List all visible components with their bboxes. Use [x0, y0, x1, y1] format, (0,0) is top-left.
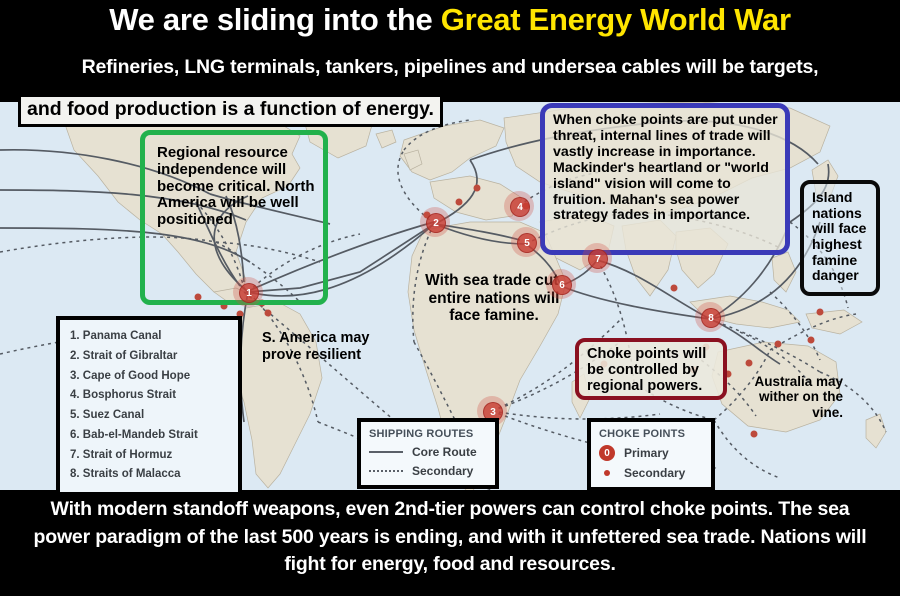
callout-green-north-america: Regional resource independence will beco… — [140, 130, 328, 305]
page-title: We are sliding into the Great Energy Wor… — [0, 2, 900, 38]
choke-point-marker: 7 — [588, 249, 608, 269]
title-text-plain: We are sliding into the — [109, 2, 441, 37]
choke-point-marker: 1 — [239, 283, 259, 303]
secondary-choke-dot-icon — [599, 470, 615, 476]
choke-point-list-item: 8. Straits of Malacca — [70, 465, 234, 485]
choke-point-list-item: 6. Bab-el-Mandeb Strait — [70, 426, 234, 446]
choke-point-list-item: 7. Strait of Hormuz — [70, 446, 234, 466]
choke-point-list-item: 4. Bosphorus Strait — [70, 386, 234, 406]
choke-point-list-item: 1. Panama Canal — [70, 327, 234, 347]
callout-red-text: Choke points will be controlled by regio… — [587, 346, 706, 394]
legend-shipping-title: SHIPPING ROUTES — [369, 428, 487, 440]
footer-banner: With modern standoff weapons, even 2nd-t… — [0, 490, 900, 596]
legend-secondary-choke-row: Secondary — [599, 466, 703, 480]
callout-blue-chokepoints: When choke points are put under threat, … — [540, 103, 790, 255]
legend-core-route-row: Core Route — [369, 445, 487, 459]
choke-point-list-item: 3. Cape of Good Hope — [70, 367, 234, 387]
callout-s-america-text: S. America may prove resilient — [262, 330, 369, 363]
header-subtitle: Refineries, LNG terminals, tankers, pipe… — [0, 56, 900, 79]
legend-primary-label: Primary — [624, 446, 669, 460]
choke-point-list: 1. Panama Canal2. Strait of Gibraltar3. … — [56, 316, 242, 496]
legend-secondary-choke-label: Secondary — [624, 466, 685, 480]
secondary-route-line-icon — [369, 470, 403, 472]
legend-core-route-label: Core Route — [412, 445, 477, 459]
choke-point-list-item: 2. Strait of Gibraltar — [70, 347, 234, 367]
legend-choke-points: CHOKE POINTS 0 Primary Secondary — [587, 418, 715, 491]
callout-island-nations: Island nations will face highest famine … — [800, 180, 880, 296]
header-banner-strip: and food production is a function of ene… — [18, 94, 443, 127]
footer-text: With modern standoff weapons, even 2nd-t… — [20, 496, 880, 579]
choke-point-marker: 8 — [701, 308, 721, 328]
choke-point-marker: 2 — [426, 213, 446, 233]
callout-south-america: S. America may prove resilient — [262, 330, 372, 363]
choke-point-marker: 5 — [517, 233, 537, 253]
primary-choke-marker-icon: 0 — [599, 445, 615, 461]
choke-point-marker: 4 — [510, 197, 530, 217]
legend-choke-title: CHOKE POINTS — [599, 428, 703, 440]
callout-green-text: Regional resource independence will beco… — [157, 144, 315, 228]
callout-sea-trade-text: With sea trade cut, entire nations will … — [425, 272, 563, 324]
choke-point-list-item: 5. Suez Canal — [70, 406, 234, 426]
title-text-highlight: Great Energy World War — [441, 2, 791, 37]
legend-primary-row: 0 Primary — [599, 445, 703, 461]
callout-australia-text: Australia may wither on the vine. — [754, 374, 843, 420]
callout-island-text: Island nations will face highest famine … — [812, 189, 866, 283]
legend-secondary-route-label: Secondary — [412, 464, 473, 478]
callout-australia: Australia may wither on the vine. — [733, 374, 843, 420]
callout-blue-text: When choke points are put under threat, … — [553, 112, 778, 223]
callout-red-regional-powers: Choke points will be controlled by regio… — [575, 338, 727, 400]
legend-secondary-route-row: Secondary — [369, 464, 487, 478]
choke-point-marker: 6 — [552, 275, 572, 295]
core-route-line-icon — [369, 451, 403, 453]
infographic-root: We are sliding into the Great Energy Wor… — [0, 0, 900, 596]
legend-shipping-routes: SHIPPING ROUTES Core Route Secondary — [357, 418, 499, 489]
header-banner: We are sliding into the Great Energy Wor… — [0, 0, 900, 102]
